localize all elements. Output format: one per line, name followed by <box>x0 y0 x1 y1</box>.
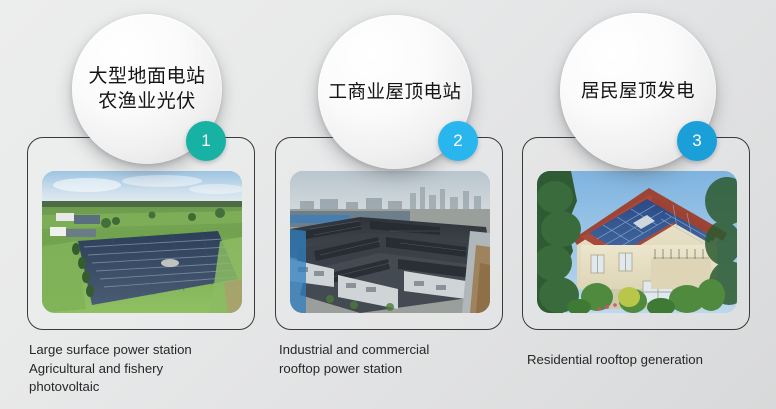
industrial-rooftop-solar-photo <box>290 171 490 313</box>
circle-title-1: 大型地面电站 农渔业光伏 <box>82 64 211 114</box>
step-badge-2[interactable]: 2 <box>438 121 478 161</box>
circle-title-2: 工商业屋顶电站 <box>322 80 467 105</box>
ground-mounted-solar-farm-photo <box>42 171 242 313</box>
step-badge-number-2: 2 <box>453 131 462 151</box>
caption-3: Residential rooftop generation <box>527 351 767 370</box>
residential-house-rooftop-solar-photo <box>537 171 737 313</box>
slide-canvas: 大型地面电站 农渔业光伏 1 Large surface power stati… <box>0 0 776 409</box>
caption-1: Large surface power station Agricultural… <box>29 341 259 397</box>
step-badge-number-3: 3 <box>692 131 701 151</box>
card-panel-1[interactable] <box>27 137 255 330</box>
circle-title-3: 居民屋顶发电 <box>575 79 701 104</box>
step-badge-3[interactable]: 3 <box>677 121 717 161</box>
step-badge-1[interactable]: 1 <box>186 121 226 161</box>
step-badge-number-1: 1 <box>201 131 210 151</box>
caption-2: Industrial and commercial rooftop power … <box>279 341 509 378</box>
